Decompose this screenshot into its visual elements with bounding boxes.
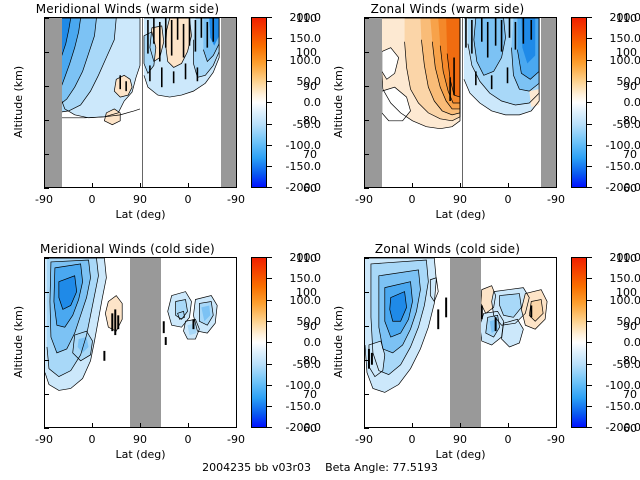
x-tick-label: 90: [120, 194, 160, 205]
y-tick: [44, 394, 49, 395]
colorbar-label: -200.0: [593, 422, 640, 433]
colorbar-label: 100.0: [273, 295, 321, 306]
colorbar-label: -150.0: [273, 161, 321, 172]
footer-beta-angle: Beta Angle: 77.5193: [325, 461, 438, 474]
colorbar-label: -200.0: [593, 182, 640, 193]
plot-area: [364, 257, 557, 428]
x-tick: [44, 423, 45, 428]
footer-orbit-id: 2004235 bb v03r03: [202, 461, 311, 474]
contour-field: [365, 18, 556, 187]
x-tick: [364, 423, 365, 428]
colorbar-tick: [267, 385, 272, 386]
y-tick: [364, 428, 369, 429]
x-tick: [188, 423, 189, 428]
colorbar-tick: [587, 300, 592, 301]
x-tick: [188, 183, 189, 188]
panel-title: Zonal Winds (cold side): [320, 242, 575, 256]
x-tick-label: -90: [216, 434, 256, 445]
x-tick-label: -90: [344, 434, 384, 445]
x-tick-label: 0: [488, 434, 528, 445]
y-axis-title: Altitude (km): [12, 66, 25, 138]
y-tick: [44, 428, 49, 429]
y-tick: [364, 292, 369, 293]
x-tick-label: -90: [344, 194, 384, 205]
colorbar-label: -150.0: [593, 401, 640, 412]
y-tick: [364, 120, 369, 121]
y-tick: [44, 360, 49, 361]
colorbar-tick: [587, 102, 592, 103]
colorbar-gradient: [571, 17, 587, 188]
colorbar-tick: [587, 17, 592, 18]
x-tick-label: 0: [392, 434, 432, 445]
x-tick: [92, 183, 93, 188]
colorbar-label: 50.0: [593, 316, 640, 327]
colorbar-label: 200.0: [593, 252, 640, 263]
colorbar-label: -200.0: [273, 182, 321, 193]
x-tick: [364, 183, 365, 188]
panel-title: Meridional Winds (warm side): [0, 2, 255, 16]
x-tick-label: 0: [72, 194, 112, 205]
plot-area: [44, 257, 237, 428]
colorbar-tick: [267, 60, 272, 61]
colorbar-gradient: [251, 257, 267, 428]
y-tick: [364, 258, 369, 259]
colorbar-tick: [587, 342, 592, 343]
colorbar-label: -50.0: [273, 359, 321, 370]
colorbar-tick: [267, 364, 272, 365]
data-gap-left: [45, 18, 62, 187]
y-tick: [44, 188, 49, 189]
colorbar-label: 150.0: [273, 33, 321, 44]
colorbar-label: 0.0: [273, 337, 321, 348]
y-tick: [364, 154, 369, 155]
colorbar-label: 0.0: [273, 97, 321, 108]
colorbar-label: 150.0: [593, 273, 640, 284]
x-tick-label: 0: [488, 194, 528, 205]
x-tick-label: 90: [440, 194, 480, 205]
y-axis-title: Altitude (km): [332, 66, 345, 138]
x-tick: [508, 423, 509, 428]
data-gap-right: [221, 18, 237, 187]
colorbar-label: 0.0: [593, 337, 640, 348]
colorbar-tick: [587, 145, 592, 146]
colorbar-label: 50.0: [273, 316, 321, 327]
panel-zonal-cold: Zonal Winds (cold side): [320, 240, 640, 480]
colorbar-tick: [587, 427, 592, 428]
panel-title: Zonal Winds (warm side): [320, 2, 575, 16]
colorbar-tick: [267, 102, 272, 103]
colorbar-tick: [587, 385, 592, 386]
x-tick-label: 90: [440, 434, 480, 445]
colorbar-tick: [267, 342, 272, 343]
colorbar-tick: [267, 406, 272, 407]
x-tick-label: 0: [168, 434, 208, 445]
colorbar-label: -200.0: [273, 422, 321, 433]
colorbar-label: -100.0: [593, 140, 640, 151]
y-tick: [364, 326, 369, 327]
colorbar-label: -100.0: [593, 380, 640, 391]
colorbar-label: 0.0: [593, 97, 640, 108]
colorbar-label: -150.0: [273, 401, 321, 412]
colorbar-label: -50.0: [273, 119, 321, 130]
y-tick: [44, 86, 49, 87]
x-tick: [236, 183, 237, 188]
contour-field: [45, 18, 236, 187]
colorbar-tick: [267, 81, 272, 82]
colorbar-tick: [267, 166, 272, 167]
colorbar-tick: [267, 38, 272, 39]
x-axis-title: Lat (deg): [44, 448, 237, 461]
colorbar-tick: [587, 187, 592, 188]
footer-spacer: [311, 461, 325, 474]
x-tick: [556, 183, 557, 188]
plot-area: [44, 17, 237, 188]
colorbar-tick: [267, 145, 272, 146]
x-tick: [556, 423, 557, 428]
x-tick-label: 0: [168, 194, 208, 205]
colorbar-label: 100.0: [593, 55, 640, 66]
y-tick: [364, 394, 369, 395]
x-tick: [460, 423, 461, 428]
y-tick: [44, 326, 49, 327]
colorbar-tick: [267, 278, 272, 279]
colorbar-tick: [587, 406, 592, 407]
x-axis-title: Lat (deg): [44, 208, 237, 221]
data-gap-left: [365, 18, 382, 187]
x-axis-title: Lat (deg): [364, 448, 557, 461]
x-tick: [140, 423, 141, 428]
colorbar-tick: [267, 187, 272, 188]
colorbar-tick: [267, 17, 272, 18]
colorbar-gradient: [251, 17, 267, 188]
x-tick-label: 0: [72, 434, 112, 445]
y-tick: [44, 154, 49, 155]
x-tick: [508, 183, 509, 188]
x-tick: [460, 183, 461, 188]
x-tick: [412, 183, 413, 188]
colorbar-tick: [587, 278, 592, 279]
data-gap-center: [450, 258, 481, 427]
y-tick: [364, 360, 369, 361]
colorbar-tick: [587, 81, 592, 82]
colorbar-tick: [267, 257, 272, 258]
y-tick: [44, 120, 49, 121]
colorbar-tick: [267, 300, 272, 301]
colorbar-label: -50.0: [593, 119, 640, 130]
colorbar-label: -100.0: [273, 380, 321, 391]
y-axis-title: Altitude (km): [12, 306, 25, 378]
y-axis-title: Altitude (km): [332, 306, 345, 378]
colorbar-label: 150.0: [593, 33, 640, 44]
colorbar-label: 200.0: [273, 12, 321, 23]
orbit-divider: [462, 18, 463, 187]
y-tick: [364, 18, 369, 19]
colorbar-label: 50.0: [273, 76, 321, 87]
data-gap-right: [541, 18, 557, 187]
colorbar-label: 150.0: [273, 273, 321, 284]
panel-zonal-warm: Zonal Winds (warm side): [320, 0, 640, 240]
panel-title: Meridional Winds (cold side): [0, 242, 255, 256]
colorbar-label: -100.0: [273, 140, 321, 151]
x-tick-label: -90: [536, 434, 576, 445]
y-tick: [44, 292, 49, 293]
colorbar-label: 50.0: [593, 76, 640, 87]
colorbar-tick: [587, 60, 592, 61]
y-tick: [364, 188, 369, 189]
colorbar-label: 100.0: [273, 55, 321, 66]
colorbar-tick: [267, 321, 272, 322]
x-tick: [140, 183, 141, 188]
x-tick: [412, 423, 413, 428]
colorbar-gradient: [571, 257, 587, 428]
colorbar-label: -50.0: [593, 359, 640, 370]
x-tick: [236, 423, 237, 428]
y-tick: [364, 86, 369, 87]
colorbar-tick: [587, 38, 592, 39]
x-tick-label: -90: [24, 434, 64, 445]
colorbar-tick: [587, 124, 592, 125]
colorbar-tick: [587, 166, 592, 167]
colorbar-tick: [267, 124, 272, 125]
plot-area: [364, 17, 557, 188]
colorbar-label: -150.0: [593, 161, 640, 172]
colorbar-label: 200.0: [273, 252, 321, 263]
colorbar-tick: [587, 321, 592, 322]
figure-footer: 2004235 bb v03r03 Beta Angle: 77.5193: [0, 461, 640, 474]
x-tick: [44, 183, 45, 188]
y-tick: [44, 52, 49, 53]
panel-meridional-warm: Meridional Winds (warm side): [0, 0, 320, 240]
x-tick-label: -90: [24, 194, 64, 205]
colorbar-label: 200.0: [593, 12, 640, 23]
colorbar-tick: [267, 427, 272, 428]
x-tick-label: 0: [392, 194, 432, 205]
x-tick: [92, 423, 93, 428]
x-axis-title: Lat (deg): [364, 208, 557, 221]
x-tick-label: -90: [536, 194, 576, 205]
data-gap-center: [130, 258, 161, 427]
colorbar-label: 100.0: [593, 295, 640, 306]
orbit-divider: [142, 18, 143, 187]
colorbar-tick: [587, 364, 592, 365]
y-tick: [44, 258, 49, 259]
y-tick: [44, 18, 49, 19]
panel-meridional-cold: Meridional Winds (cold side): [0, 240, 320, 480]
colorbar-tick: [587, 257, 592, 258]
y-tick: [364, 52, 369, 53]
x-tick-label: 90: [120, 434, 160, 445]
x-tick-label: -90: [216, 194, 256, 205]
